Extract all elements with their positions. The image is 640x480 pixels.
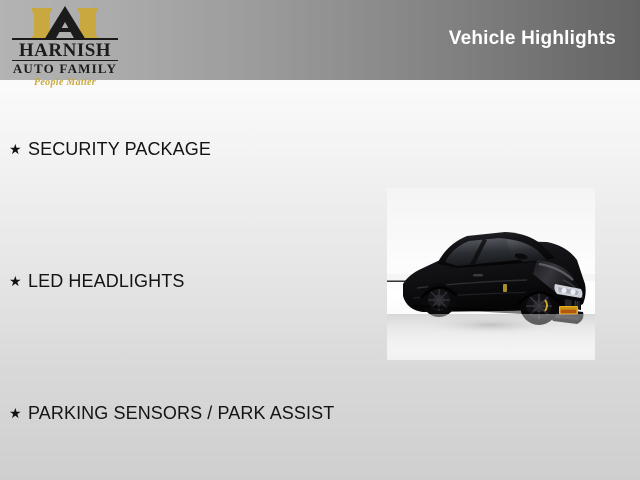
dealer-logo: HARNISH AUTO FAMILY People Matter [10, 4, 120, 80]
vehicle-highlights-slide: HARNISH AUTO FAMILY People Matter Vehicl… [0, 0, 640, 480]
list-item: ★ PARKING SENSORS / PARK ASSIST [9, 402, 334, 424]
highlight-label: PARKING SENSORS / PARK ASSIST [28, 402, 334, 424]
list-item: ★ SECURITY PACKAGE [9, 138, 211, 160]
page-title: Vehicle Highlights [449, 28, 616, 50]
columned-arch-a-icon [32, 6, 98, 40]
highlight-label: LED HEADLIGHTS [28, 270, 184, 292]
logo-subtitle: AUTO FAMILY [10, 62, 120, 76]
list-item: ★ LED HEADLIGHTS [9, 270, 184, 292]
highlight-label: SECURITY PACKAGE [28, 138, 211, 160]
header-bar: HARNISH AUTO FAMILY People Matter Vehicl… [0, 0, 640, 80]
star-bullet-icon: ★ [9, 271, 28, 291]
star-bullet-icon: ★ [9, 403, 28, 423]
vehicle-photo [387, 188, 595, 360]
star-bullet-icon: ★ [9, 139, 28, 159]
logo-name: HARNISH [10, 41, 120, 60]
